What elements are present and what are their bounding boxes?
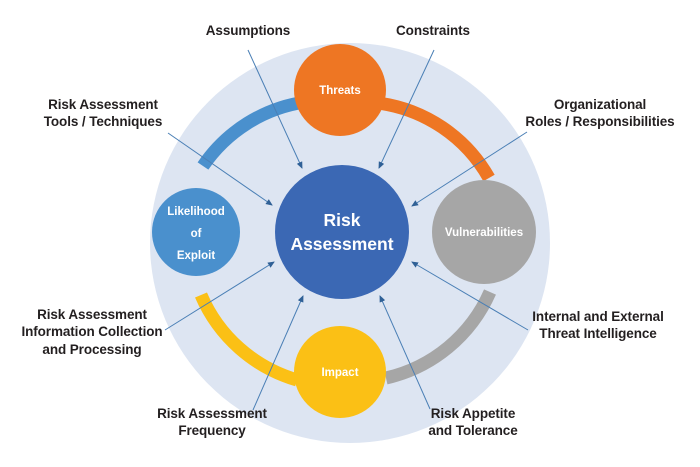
node-risk-assessment-label-line1: Risk bbox=[324, 210, 361, 230]
node-threats-label: Threats bbox=[319, 85, 361, 97]
callout-appetite-tolerance: Risk Appetite and Tolerance bbox=[398, 405, 548, 440]
risk-assessment-diagram: Threats Vulnerabilities Impact Likelihoo… bbox=[0, 0, 700, 467]
node-likelihood-label-line1: Likelihood bbox=[167, 206, 225, 218]
diagram-canvas: Threats Vulnerabilities Impact Likelihoo… bbox=[0, 0, 700, 467]
callout-tools-techniques: Risk Assessment Tools / Techniques bbox=[28, 96, 178, 131]
node-likelihood-of-exploit[interactable]: Likelihood of Exploit bbox=[152, 188, 240, 276]
callout-info-collection: Risk Assessment Information Collection a… bbox=[12, 306, 172, 358]
node-risk-assessment[interactable]: Risk Assessment bbox=[275, 165, 409, 299]
callout-frequency: Risk Assessment Frequency bbox=[132, 405, 292, 440]
callout-assumptions: Assumptions bbox=[178, 22, 318, 39]
node-impact-label: Impact bbox=[321, 367, 358, 379]
node-likelihood-label-line3: Exploit bbox=[177, 250, 216, 262]
callout-constraints: Constraints bbox=[363, 22, 503, 39]
callout-org-roles: Organizational Roles / Responsibilities bbox=[520, 96, 680, 131]
node-vulnerabilities-label: Vulnerabilities bbox=[445, 227, 523, 239]
node-threats[interactable]: Threats bbox=[294, 44, 386, 136]
node-impact[interactable]: Impact bbox=[294, 326, 386, 418]
callout-threat-intelligence: Internal and External Threat Intelligenc… bbox=[518, 308, 678, 343]
node-vulnerabilities[interactable]: Vulnerabilities bbox=[432, 180, 536, 284]
node-likelihood-label-line2: of bbox=[191, 228, 202, 240]
node-risk-assessment-circle[interactable] bbox=[275, 165, 409, 299]
node-risk-assessment-label-line2: Assessment bbox=[290, 234, 393, 254]
